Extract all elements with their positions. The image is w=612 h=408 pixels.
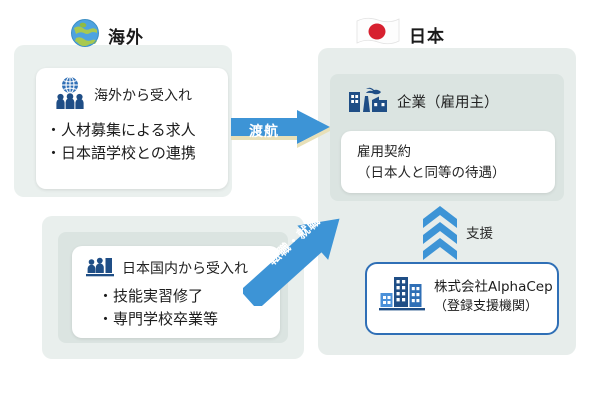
region-header-japan: 日本 (355, 16, 445, 52)
alphacep-subtitle: （登録支援機関） (434, 299, 538, 314)
card-overseas-intake: 海外から受入れ 人材募集による求人 日本語学校との連携 (36, 68, 228, 189)
overseas-intake-heading-row: 海外から受入れ (46, 76, 228, 114)
alphacep-name: 株式会社AlphaCep (434, 279, 553, 295)
card-alphacep: 株式会社AlphaCep （登録支援機関） (365, 262, 559, 335)
triple-chevron-up-icon (422, 206, 458, 262)
list-item: 人材募集による求人 (46, 119, 228, 142)
overseas-intake-bullets: 人材募集による求人 日本語学校との連携 (46, 119, 228, 164)
buildings-icon (379, 272, 425, 316)
arrow-travel-label: 渡航 (249, 121, 279, 141)
people-group-icon (86, 255, 114, 281)
arrow-transfer: 転職・就職 (243, 202, 369, 306)
overseas-intake-heading: 海外から受入れ (94, 85, 192, 105)
arrow-support-label: 支援 (466, 222, 493, 242)
list-item: 専門学校卒業等 (98, 308, 280, 331)
arrow-travel: 渡航 (231, 110, 331, 154)
list-item: 日本語学校との連携 (46, 142, 228, 165)
region-label-overseas: 海外 (108, 23, 144, 48)
globe-with-people-icon (54, 76, 86, 114)
company-heading: 企業（雇用主） (397, 91, 499, 112)
card-employment-contract: 雇用契約 （日本人と同等の待遇） (341, 131, 555, 193)
arrow-support (422, 206, 458, 262)
region-header-overseas: 海外 (70, 18, 144, 52)
alphacep-text-block: 株式会社AlphaCep （登録支援機関） (434, 275, 553, 314)
factory-icon (348, 84, 388, 118)
region-label-japan: 日本 (409, 22, 445, 47)
contract-line-1: 雇用契約 (357, 142, 555, 163)
company-heading-row: 企業（雇用主） (348, 84, 499, 118)
contract-line-2: （日本人と同等の待遇） (357, 163, 555, 184)
globe-emoji-icon (70, 18, 100, 52)
diagram-canvas: 海外 日本 (0, 0, 612, 408)
japan-flag-icon (355, 16, 401, 52)
domestic-intake-heading: 日本国内から受入れ (122, 258, 248, 278)
